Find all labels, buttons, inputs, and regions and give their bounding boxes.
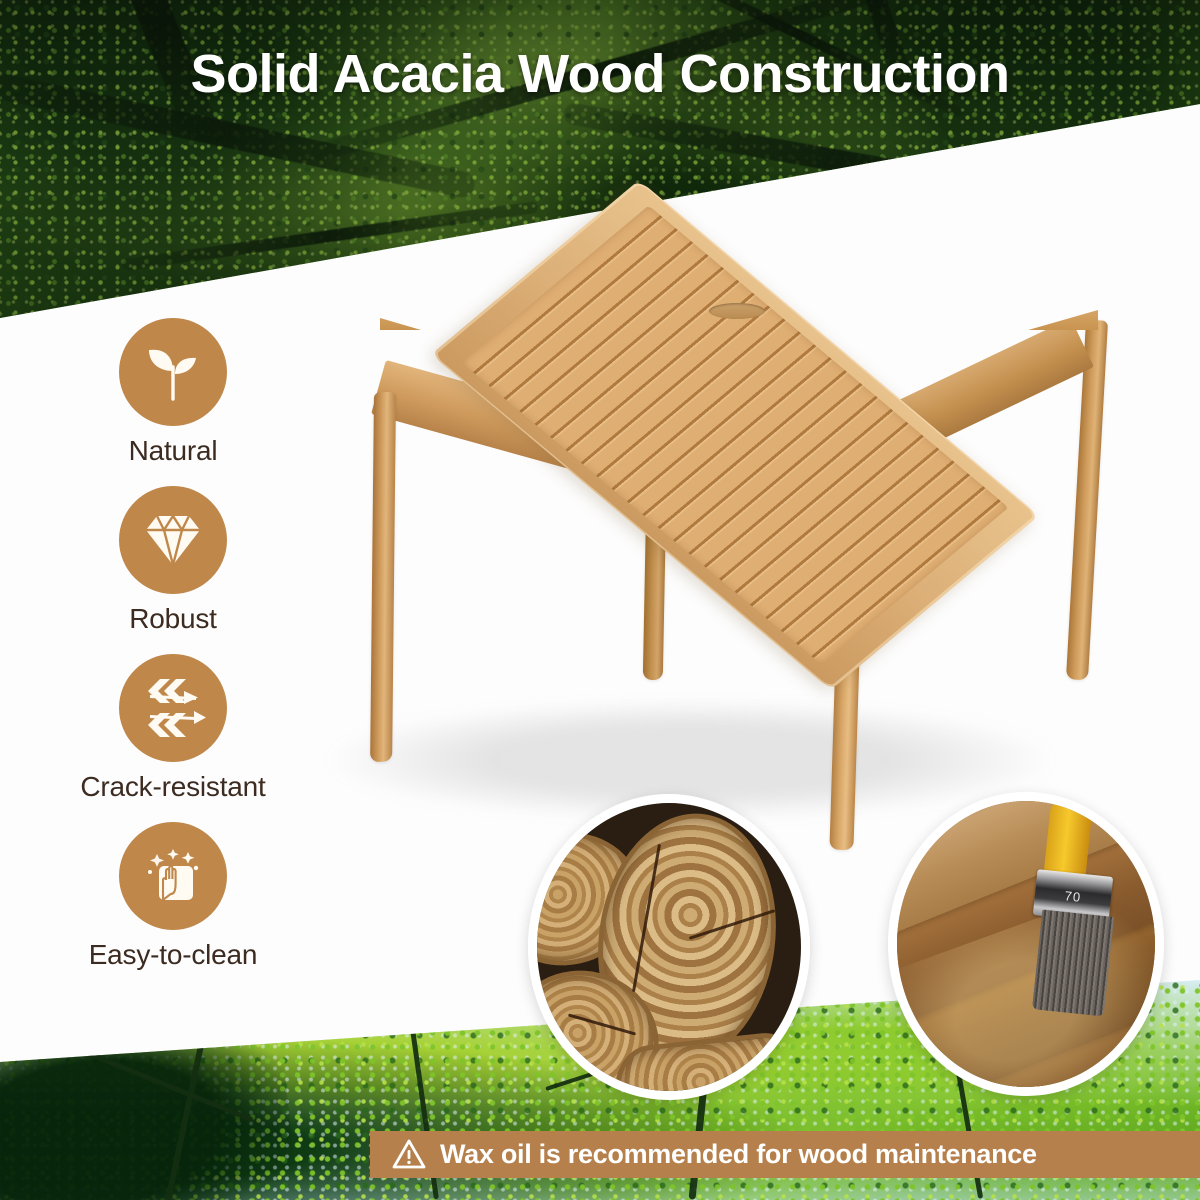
diamond-icon xyxy=(140,511,206,569)
warning-banner-text: Wax oil is recommended for wood maintena… xyxy=(440,1139,1037,1170)
detail-shot-cut-logs xyxy=(528,794,810,1100)
brush-bristles xyxy=(1032,910,1114,1017)
wiping-hand-sparkle-icon xyxy=(141,846,205,906)
sprout-leaf-icon xyxy=(142,341,204,403)
umbrella-hole xyxy=(709,303,765,319)
feature-label: Robust xyxy=(38,603,308,635)
feature-item-crack-resistant: Crack-resistant xyxy=(38,654,308,822)
feature-label: Easy-to-clean xyxy=(38,939,308,971)
paint-brush-icon: 70 xyxy=(897,801,1155,1087)
warning-triangle-icon xyxy=(392,1139,426,1170)
feature-item-natural: Natural xyxy=(38,318,308,486)
log-stack-icon xyxy=(537,803,801,1091)
feature-item-robust: Robust xyxy=(38,486,308,654)
feature-badge xyxy=(119,654,227,762)
feature-list: Natural Robust xyxy=(38,318,308,990)
table-leg-front-left xyxy=(370,392,396,762)
maintenance-warning-banner: Wax oil is recommended for wood maintena… xyxy=(370,1131,1200,1178)
feature-label: Crack-resistant xyxy=(38,771,308,803)
feature-badge xyxy=(119,318,227,426)
feature-item-easy-to-clean: Easy-to-clean xyxy=(38,822,308,990)
promo-image-canvas: Solid Acacia Wood Construction xyxy=(0,0,1200,1200)
feature-label: Natural xyxy=(38,435,308,467)
detail-shot-wax-oil: 70 xyxy=(888,792,1164,1096)
table-top-slats xyxy=(461,205,1008,664)
chevron-arrows-icon xyxy=(140,677,206,739)
feature-badge xyxy=(119,822,227,930)
feature-badge xyxy=(119,486,227,594)
brush-size-label: 70 xyxy=(1064,888,1082,905)
